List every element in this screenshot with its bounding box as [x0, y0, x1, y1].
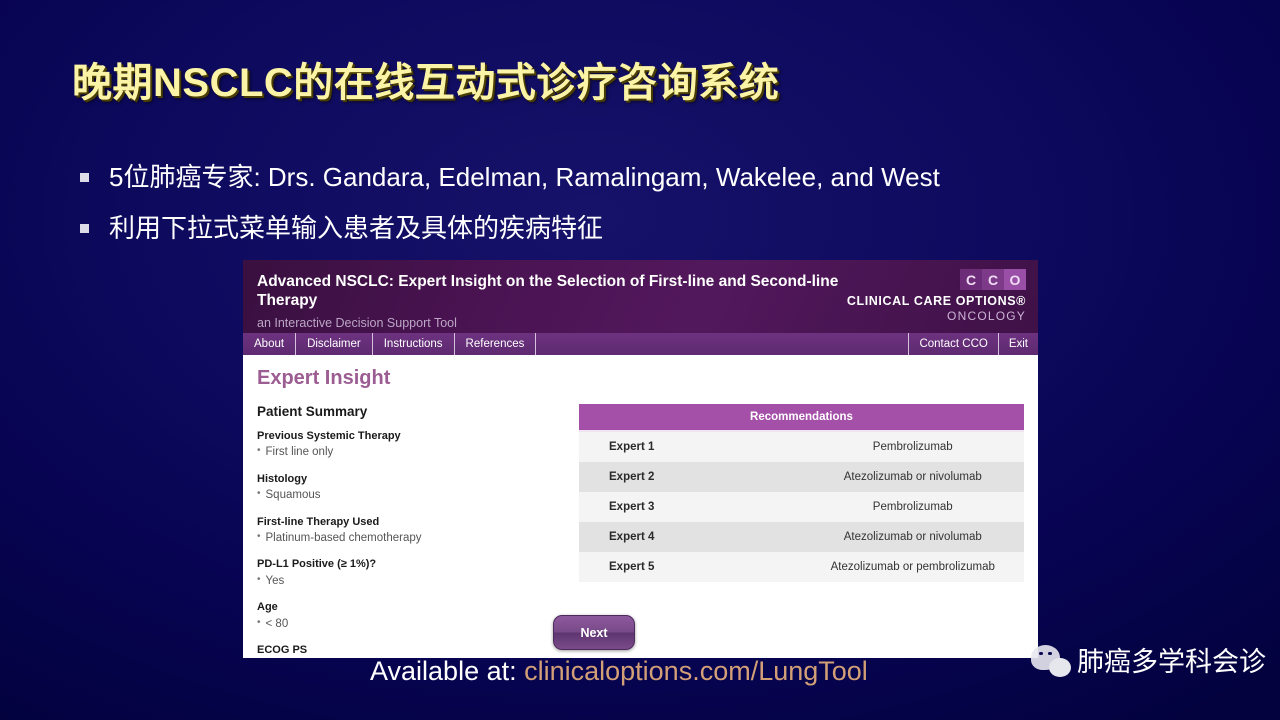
nav-item-references[interactable]: References — [455, 333, 537, 355]
app-body: Expert Insight Patient Summary Previous … — [243, 355, 1038, 658]
patient-summary-panel: Patient Summary Previous Systemic Therap… — [257, 404, 557, 658]
table-row: Expert 3 Pembrolizumab — [579, 492, 1024, 522]
footer-prefix: Available at: — [370, 656, 524, 686]
nav-item-disclaimer[interactable]: Disclaimer — [296, 333, 373, 355]
nav-item-instructions[interactable]: Instructions — [373, 333, 455, 355]
patient-field-value: First line only — [257, 444, 557, 461]
expert-recommendation: Atezolizumab or pembrolizumab — [802, 552, 1025, 582]
nav-item-contact-cco[interactable]: Contact CCO — [908, 333, 997, 355]
expert-recommendation: Atezolizumab or nivolumab — [802, 462, 1025, 492]
wechat-bubble-small — [1049, 658, 1071, 677]
bullet-marker-icon — [80, 173, 89, 182]
bullet-marker-icon — [80, 224, 89, 233]
recommendations-panel: Recommendations Expert 1 Pembrolizumab E… — [579, 404, 1024, 658]
app-columns: Patient Summary Previous Systemic Therap… — [257, 404, 1024, 658]
table-header-recommendations: Recommendations — [579, 404, 1024, 431]
expert-name: Expert 2 — [579, 462, 802, 492]
expert-name: Expert 5 — [579, 552, 802, 582]
patient-field-label: Histology — [257, 472, 557, 486]
patient-field-label: Age — [257, 600, 557, 614]
slide-canvas: 晚期NSCLC的在线互动式诊疗咨询系统 5位肺癌专家: Drs. Gandara… — [0, 0, 1280, 720]
bullet-text: 5位肺癌专家: Drs. Gandara, Edelman, Ramalinga… — [109, 160, 940, 195]
wechat-dot — [1039, 652, 1043, 656]
patient-field: Previous Systemic Therapy First line onl… — [257, 429, 557, 461]
watermark-text: 肺癌多学科会诊 — [1077, 640, 1266, 679]
patient-field-label: PD-L1 Positive (≥ 1%)? — [257, 557, 557, 571]
expert-recommendation: Pembrolizumab — [802, 431, 1025, 462]
patient-summary-heading: Patient Summary — [257, 404, 557, 419]
patient-field: First-line Therapy Used Platinum-based c… — [257, 515, 557, 547]
patient-field: PD-L1 Positive (≥ 1%)? Yes — [257, 557, 557, 589]
next-button[interactable]: Next — [553, 615, 635, 650]
nav-spacer — [536, 333, 908, 355]
expert-name: Expert 1 — [579, 431, 802, 462]
expert-name: Expert 4 — [579, 522, 802, 552]
expert-name: Expert 3 — [579, 492, 802, 522]
cco-logo-letter: C — [960, 269, 982, 290]
bullet-list: 5位肺癌专家: Drs. Gandara, Edelman, Ramalinga… — [80, 160, 1180, 262]
panel-title: Expert Insight — [257, 367, 1024, 390]
nav-item-exit[interactable]: Exit — [998, 333, 1038, 355]
watermark: 肺癌多学科会诊 — [1031, 640, 1266, 679]
bullet-item: 利用下拉式菜单输入患者及具体的疾病特征 — [80, 211, 1180, 246]
patient-field: Age < 80 — [257, 600, 557, 632]
patient-field: Histology Squamous — [257, 472, 557, 504]
app-nav-bar[interactable]: About Disclaimer Instructions References… — [243, 333, 1038, 355]
patient-field-label: First-line Therapy Used — [257, 515, 557, 529]
table-row: Expert 2 Atezolizumab or nivolumab — [579, 462, 1024, 492]
cco-logo-letter: C — [982, 269, 1004, 290]
patient-field-value: Yes — [257, 573, 557, 590]
expert-recommendation: Atezolizumab or nivolumab — [802, 522, 1025, 552]
footer-url[interactable]: clinicaloptions.com/LungTool — [524, 656, 868, 686]
expert-recommendation: Pembrolizumab — [802, 492, 1025, 522]
recommendations-table: Recommendations Expert 1 Pembrolizumab E… — [579, 404, 1024, 582]
bullet-item: 5位肺癌专家: Drs. Gandara, Edelman, Ramalinga… — [80, 160, 1180, 195]
cco-logo-letter: O — [1004, 269, 1026, 290]
table-row: Expert 5 Atezolizumab or pembrolizumab — [579, 552, 1024, 582]
page-title: 晚期NSCLC的在线互动式诊疗咨询系统 — [72, 50, 779, 108]
embedded-app-screenshot: Advanced NSCLC: Expert Insight on the Se… — [243, 260, 1038, 658]
app-header: Advanced NSCLC: Expert Insight on the Se… — [243, 260, 1038, 333]
cco-logo-icon: C C O — [960, 269, 1026, 290]
table-row: Expert 1 Pembrolizumab — [579, 431, 1024, 462]
bullet-text: 利用下拉式菜单输入患者及具体的疾病特征 — [109, 211, 603, 246]
footer-availability: Available at: clinicaloptions.com/LungTo… — [370, 656, 868, 687]
brand-block: C C O CLINICAL CARE OPTIONS® ONCOLOGY — [847, 269, 1026, 323]
nav-item-about[interactable]: About — [243, 333, 296, 355]
table-row: Expert 4 Atezolizumab or nivolumab — [579, 522, 1024, 552]
brand-name: CLINICAL CARE OPTIONS® — [847, 294, 1026, 308]
wechat-icon — [1031, 643, 1071, 677]
patient-field-value: Squamous — [257, 487, 557, 504]
patient-field-label: Previous Systemic Therapy — [257, 429, 557, 443]
patient-field-value: < 80 — [257, 616, 557, 633]
patient-field-value: Platinum-based chemotherapy — [257, 530, 557, 547]
wechat-dot — [1048, 652, 1052, 656]
app-title: Advanced NSCLC: Expert Insight on the Se… — [257, 272, 877, 311]
table-header-row: Recommendations — [579, 404, 1024, 431]
brand-subtitle: ONCOLOGY — [847, 309, 1026, 323]
